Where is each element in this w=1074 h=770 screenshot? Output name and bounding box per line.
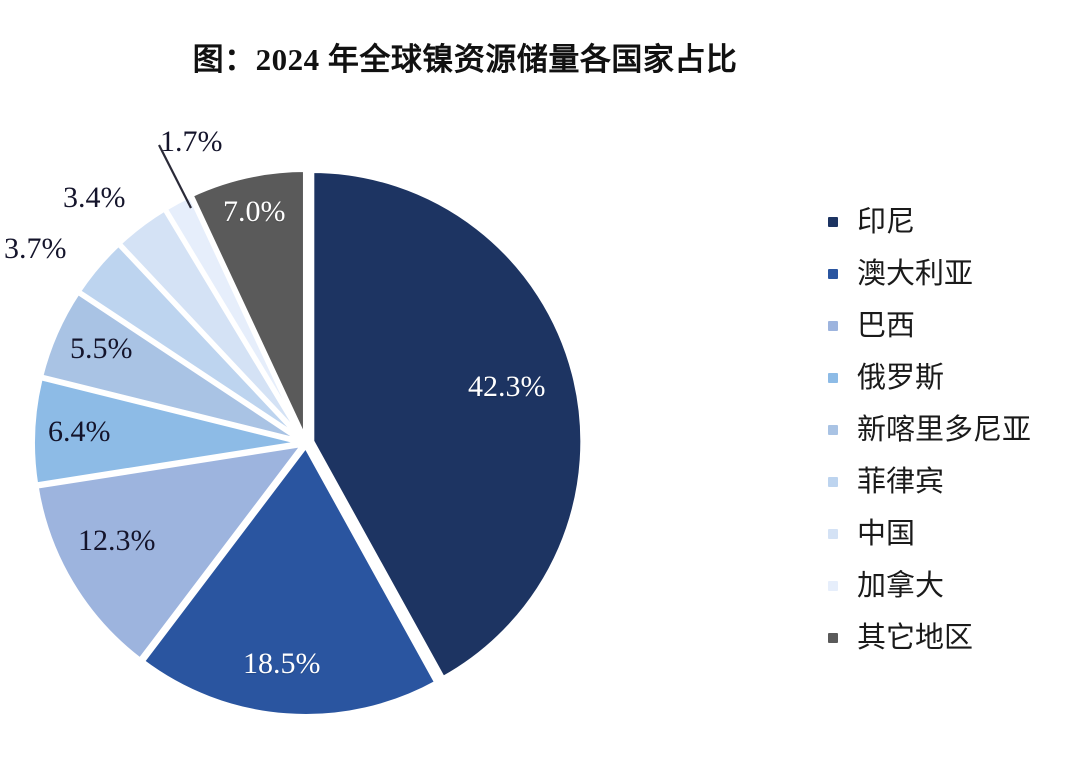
legend-swatch-icon — [828, 529, 838, 539]
legend-swatch-icon — [828, 633, 838, 643]
pie-chart-figure: 图：2024 年全球镍资源储量各国家占比 42.3 — [0, 0, 1074, 770]
legend-label: 俄罗斯 — [857, 364, 944, 393]
legend-item-new-caledonia[interactable]: 新喀里多尼亚 — [828, 404, 1072, 456]
legend-swatch-icon — [828, 477, 838, 487]
legend-item-russia[interactable]: 俄罗斯 — [828, 352, 1072, 404]
legend-label: 加拿大 — [857, 572, 944, 601]
legend-item-indonesia[interactable]: 印尼 — [828, 196, 1072, 248]
legend-swatch-icon — [828, 269, 838, 279]
pie-label-new-caledonia: 5.5% — [70, 334, 133, 364]
legend-label: 其它地区 — [857, 624, 973, 653]
pie-label-russia: 6.4% — [48, 417, 111, 447]
legend-swatch-icon — [828, 373, 838, 383]
pie-label-philippines: 3.7% — [4, 234, 67, 264]
legend-label: 印尼 — [857, 208, 915, 237]
pie-label-brazil: 12.3% — [78, 526, 156, 556]
pie-label-indonesia: 42.3% — [468, 372, 546, 402]
page-title: 图：2024 年全球镍资源储量各国家占比 — [0, 34, 930, 79]
legend-swatch-icon — [828, 217, 838, 227]
legend-label: 菲律宾 — [857, 468, 944, 497]
pie-chart-plot-area: 42.3% 18.5% 12.3% 6.4% 5.5% 3.7% 3.4% 1.… — [0, 110, 640, 770]
legend-item-philippines[interactable]: 菲律宾 — [828, 456, 1072, 508]
legend-item-china[interactable]: 中国 — [828, 508, 1072, 560]
legend-item-canada[interactable]: 加拿大 — [828, 560, 1072, 612]
pie-label-china: 3.4% — [63, 183, 126, 213]
pie-label-australia: 18.5% — [243, 649, 321, 679]
legend-label: 巴西 — [857, 312, 915, 341]
legend-item-others[interactable]: 其它地区 — [828, 612, 1072, 664]
legend-swatch-icon — [828, 581, 838, 591]
pie-label-others: 7.0% — [223, 197, 286, 227]
legend-swatch-icon — [828, 425, 838, 435]
legend-label: 澳大利亚 — [857, 260, 973, 289]
pie-label-canada: 1.7% — [160, 127, 223, 157]
legend-label: 中国 — [857, 520, 915, 549]
legend-item-brazil[interactable]: 巴西 — [828, 300, 1072, 352]
legend-swatch-icon — [828, 321, 838, 331]
legend-item-australia[interactable]: 澳大利亚 — [828, 248, 1072, 300]
legend-label: 新喀里多尼亚 — [857, 416, 1031, 445]
legend: 印尼 澳大利亚 巴西 俄罗斯 新喀里多尼亚 菲律宾 中国 加拿大 — [828, 196, 1072, 664]
